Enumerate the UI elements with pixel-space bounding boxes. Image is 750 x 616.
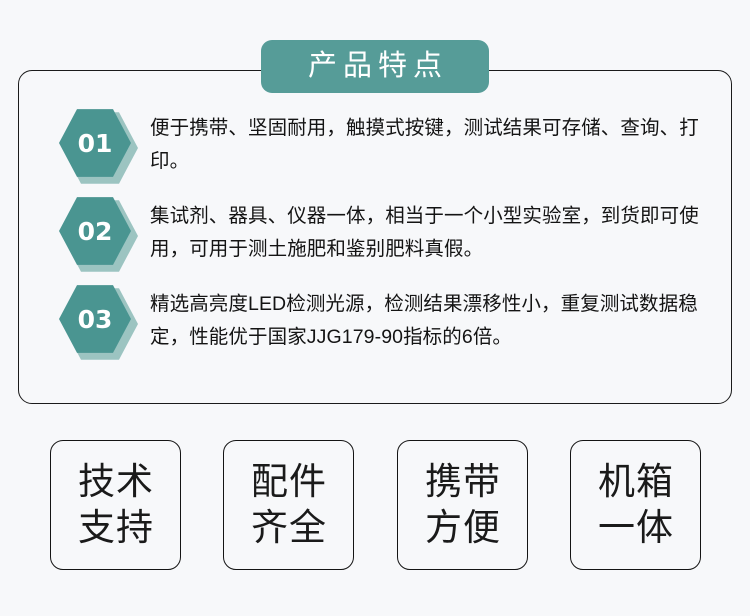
tile-line-1: 机箱 bbox=[597, 459, 674, 505]
section-title-text: 产品特点 bbox=[302, 52, 448, 81]
highlight-tile-technical-support: 技术 支持 bbox=[50, 440, 181, 570]
tile-line-1: 技术 bbox=[77, 459, 154, 505]
section-title-badge: 产品特点 bbox=[261, 40, 489, 93]
product-features-page: 产品特点 01 便于携带、坚固耐用，触摸式按键，测试结果可存储、查询、打印。 0… bbox=[0, 0, 750, 616]
tile-line-1: 配件 bbox=[250, 459, 327, 505]
hexagon-badge-02: 02 bbox=[54, 195, 146, 273]
tile-line-1: 携带 bbox=[424, 459, 501, 505]
highlight-tile-integrated-case: 机箱 一体 bbox=[570, 440, 701, 570]
feature-item: 03 精选高亮度LED检测光源，检测结果漂移性小，重复测试数据稳定，性能优于国家… bbox=[18, 283, 732, 361]
feature-list: 01 便于携带、坚固耐用，触摸式按键，测试结果可存储、查询、打印。 02 集试剂… bbox=[18, 70, 732, 404]
tile-line-2: 支持 bbox=[77, 505, 154, 551]
hexagon-badge-01: 01 bbox=[54, 107, 146, 185]
feature-number: 03 bbox=[78, 307, 113, 332]
feature-description: 集试剂、器具、仪器一体，相当于一个小型实验室，到货即可使用，可用于测土施肥和鉴别… bbox=[150, 195, 708, 266]
highlight-tile-row: 技术 支持 配件 齐全 携带 方便 机箱 一体 bbox=[0, 440, 750, 572]
tile-line-2: 一体 bbox=[597, 505, 674, 551]
feature-description: 精选高亮度LED检测光源，检测结果漂移性小，重复测试数据稳定，性能优于国家JJG… bbox=[150, 283, 708, 354]
feature-item: 01 便于携带、坚固耐用，触摸式按键，测试结果可存储、查询、打印。 bbox=[18, 107, 732, 185]
feature-item: 02 集试剂、器具、仪器一体，相当于一个小型实验室，到货即可使用，可用于测土施肥… bbox=[18, 195, 732, 273]
feature-description: 便于携带、坚固耐用，触摸式按键，测试结果可存储、查询、打印。 bbox=[150, 107, 708, 178]
hexagon-badge-03: 03 bbox=[54, 283, 146, 361]
highlight-tile-complete-accessories: 配件 齐全 bbox=[223, 440, 354, 570]
feature-number: 02 bbox=[78, 219, 113, 244]
tile-line-2: 方便 bbox=[424, 505, 501, 551]
feature-number: 01 bbox=[78, 131, 113, 156]
highlight-tile-portable: 携带 方便 bbox=[397, 440, 528, 570]
tile-line-2: 齐全 bbox=[250, 505, 327, 551]
